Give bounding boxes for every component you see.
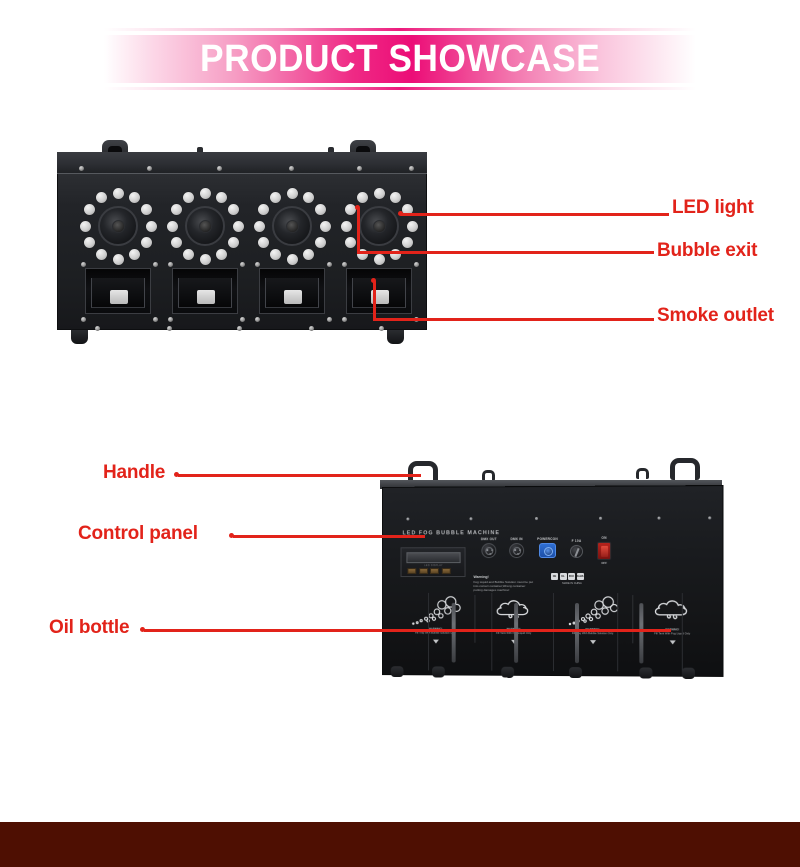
chassis-screw [167,326,172,331]
leader-dot-led [398,211,403,216]
chassis-screw [289,166,294,171]
leader-bubble-exit [357,251,654,254]
fan-hub [112,220,125,233]
callout-oil-bottle: Oil bottle [49,617,129,639]
led-light-dot [374,254,385,265]
led-light-dot [374,188,385,199]
chassis-screw [406,518,409,521]
tray-screw [255,317,260,322]
bubble-fan-unit [162,183,248,269]
smoke-outlet-tray [172,268,238,314]
certification-badges: CE UL FCC RoHS [551,573,584,580]
fan-hub [286,220,299,233]
label-switch-on: ON [601,536,606,540]
led-light-dot [303,192,314,203]
led-light-dot [171,237,182,248]
bubble-fan-unit [75,183,161,269]
oil-bottle-level-strip [575,603,579,663]
tray-screw [168,317,173,322]
led-light-dot [141,204,152,215]
smoke-cloud-icon [643,595,702,627]
tank-label-row: WARNING!Fill Tray With Bubble Solution O… [397,595,713,648]
bubble-tray [352,278,406,308]
label-power: POWERCON [537,537,558,541]
leader-smoke-v [373,281,376,320]
led-light-dot [216,249,227,260]
tray-screw [81,317,86,322]
led-light-dot [287,188,298,199]
leader-bubble-v [357,208,360,253]
led-light-dot [270,249,281,260]
chassis-screw [708,516,711,519]
showcase-banner: PRODUCT SHOWCASE [104,28,696,90]
led-light-dot [357,192,368,203]
banner-stripe-bottom [104,87,696,90]
chassis-screw [379,326,384,331]
tank-instruction-text: Fill Tank With Fog Liquid Only [654,632,690,635]
leader-dot-oil [140,627,145,632]
banner-bar: PRODUCT SHOWCASE [104,35,696,83]
connector-dmx-in[interactable]: DMX IN [509,543,524,558]
bubble-tray [178,278,232,308]
oil-bottle-level-strip [452,603,456,663]
cert-badge-ce: CE [551,573,558,580]
led-light-dot [402,237,413,248]
powercon-icon [539,543,556,558]
rubber-foot [501,667,514,678]
fan-hub [199,220,212,233]
leader-led-light [401,213,669,216]
tray-screw [240,317,245,322]
led-light-dot [315,237,326,248]
led-light-dot [96,192,107,203]
cert-badge-rohs: RoHS [577,573,584,580]
chassis-screw [409,166,414,171]
led-light-dot [167,221,178,232]
label-dmx-in: DMX IN [510,537,522,541]
chassis-screw [147,166,152,171]
led-light-dot [80,221,91,232]
panel-seam [491,593,492,671]
led-light-dot [200,254,211,265]
rear-chassis: LED FOG BUBBLE MACHINE LED DISPLAY DMX O… [382,485,724,677]
bubble-fan-unit [336,183,422,269]
tank-cell: WARNING!Fill Tray With Bubble Solution O… [553,595,632,647]
tank-cell: WARNING!Fill Tray With Bubble Solution O… [397,595,475,647]
callout-led-light: LED light [672,197,754,219]
smoke-outlet-tray [259,268,325,314]
oil-bottle-level-strip [639,603,643,663]
connector-fuse[interactable]: F 10A [570,545,583,558]
chassis-screw [535,517,538,520]
tank-divider [632,595,633,643]
tray-screw [327,317,332,322]
solution-bottle [197,290,215,304]
led-light-dot [315,204,326,215]
led-light-dot [303,249,314,260]
tank-fill-arrow [590,640,596,644]
led-light-dot [146,221,157,232]
button-down[interactable] [430,568,439,574]
lcd-display-label: LED DISPLAY [406,564,460,567]
bubble-exit-opening [359,206,399,246]
bubble-tray [265,278,319,308]
led-light-dot [200,188,211,199]
xlr-in-icon [509,543,524,558]
rocker-switch-icon [597,542,611,560]
panel-seam [617,593,618,671]
led-light-dot [96,249,107,260]
chassis-screw [79,166,84,171]
solution-bottle [284,290,302,304]
rubber-foot [391,666,404,677]
tray-screw [153,317,158,322]
led-light-dot [407,221,418,232]
origin-text: MADE IN CHINA [549,582,595,586]
warning-body: Fog Liquid and Bubble Solution must be p… [473,580,535,593]
leader-dot-smoke [371,278,376,283]
tray-screw [342,317,347,322]
bubble-exit-opening [98,206,138,246]
rubber-foot [682,668,695,679]
bottom-bar [0,822,800,867]
bubble-fan-unit [249,183,335,269]
tank-instruction-text: Fill Tray With Bubble Solution Only [415,631,456,634]
bubble-tray [91,278,145,308]
led-light-dot [84,204,95,215]
product-image-rear-view: LED FOG BUBBLE MACHINE LED DISPLAY DMX O… [372,458,730,698]
connector-dmx-out[interactable]: DMX OUT [481,543,496,558]
led-light-dot [345,237,356,248]
led-light-dot [254,221,265,232]
led-light-dot [129,192,140,203]
warning-block: Warning! Fog Liquid and Bubble Solution … [473,575,535,592]
button-up[interactable] [419,568,428,574]
tank-fill-arrow [669,640,675,644]
leader-control-panel [233,535,425,538]
led-light-dot [228,204,239,215]
led-light-dot [270,192,281,203]
chassis-screw [357,166,362,171]
tank-fill-arrow [432,640,438,644]
led-light-dot [287,254,298,265]
button-menu[interactable] [407,568,416,574]
banner-stripe-top [104,28,696,31]
leader-oil-bottle [144,629,671,632]
leader-dot-handle [174,472,179,477]
callout-control-panel: Control panel [78,523,198,545]
smoke-outlet-tray [85,268,151,314]
fan-hub [373,220,386,233]
smoke-outlet-tray [346,268,412,314]
panel-seam [682,593,683,672]
product-image-front-view [57,140,427,345]
bubble-stream-icon [563,595,621,627]
led-light-dot [171,204,182,215]
button-enter[interactable] [441,568,450,574]
chassis-screw [599,517,602,520]
led-light-dot [390,192,401,203]
chassis-screw [658,517,661,520]
led-light-dot [216,192,227,203]
led-light-dot [320,221,331,232]
callout-bubble-exit: Bubble exit [657,240,757,262]
chassis-screw [309,326,314,331]
chassis-screw [95,326,100,331]
handle-right [670,458,700,480]
bubble-exit-opening [185,206,225,246]
cert-badge-fcc: FCC [568,573,575,580]
chassis-screw [217,166,222,171]
led-light-dot [228,237,239,248]
rubber-foot [432,666,445,677]
led-light-dot [183,249,194,260]
hang-loop-right [636,468,649,479]
led-light-dot [113,254,124,265]
control-panel[interactable]: LED DISPLAY [401,547,466,577]
front-top-band [57,152,427,174]
led-light-dot [84,237,95,248]
tank-cell: WARNING!Fill Tank With Fog Liquid Only [632,595,712,648]
led-light-dot [233,221,244,232]
solution-bottle [110,290,128,304]
label-dmx-out: DMX OUT [481,537,497,541]
panel-seam [428,593,429,670]
lcd-display [406,552,460,563]
led-light-dot [341,221,352,232]
callout-smoke-outlet: Smoke outlet [657,305,774,327]
bubble-exit-opening [272,206,312,246]
label-fuse: F 10A [572,539,582,543]
led-light-dot [141,237,152,248]
chassis-screw [237,326,242,331]
led-light-dot [113,188,124,199]
oil-bottle-level-strip [514,603,518,663]
warning-title: Warning! [473,575,535,579]
foot-left [71,330,88,344]
fuse-icon [570,545,583,558]
page-title: PRODUCT SHOWCASE [200,40,600,78]
power-switch[interactable]: ON OFF [597,542,611,560]
connector-power[interactable]: POWERCON [539,543,556,558]
rubber-foot [569,667,582,678]
led-light-dot [183,192,194,203]
led-light-dot [129,249,140,260]
callout-handle: Handle [103,462,165,484]
control-buttons[interactable] [407,568,450,574]
chassis-screw [470,517,473,520]
leader-dot-panel [229,533,234,538]
cert-badge-ul: UL [559,573,566,580]
led-light-dot [258,204,269,215]
panel-seam [553,593,554,671]
foot-right [387,330,404,344]
leader-dot-bubble [355,205,360,210]
tank-divider [474,595,475,643]
leader-smoke-outlet [373,318,654,321]
xlr-out-icon [481,543,496,558]
led-light-dot [258,237,269,248]
label-switch-off: OFF [601,561,607,565]
leader-handle [178,474,421,477]
rubber-foot [639,667,652,678]
